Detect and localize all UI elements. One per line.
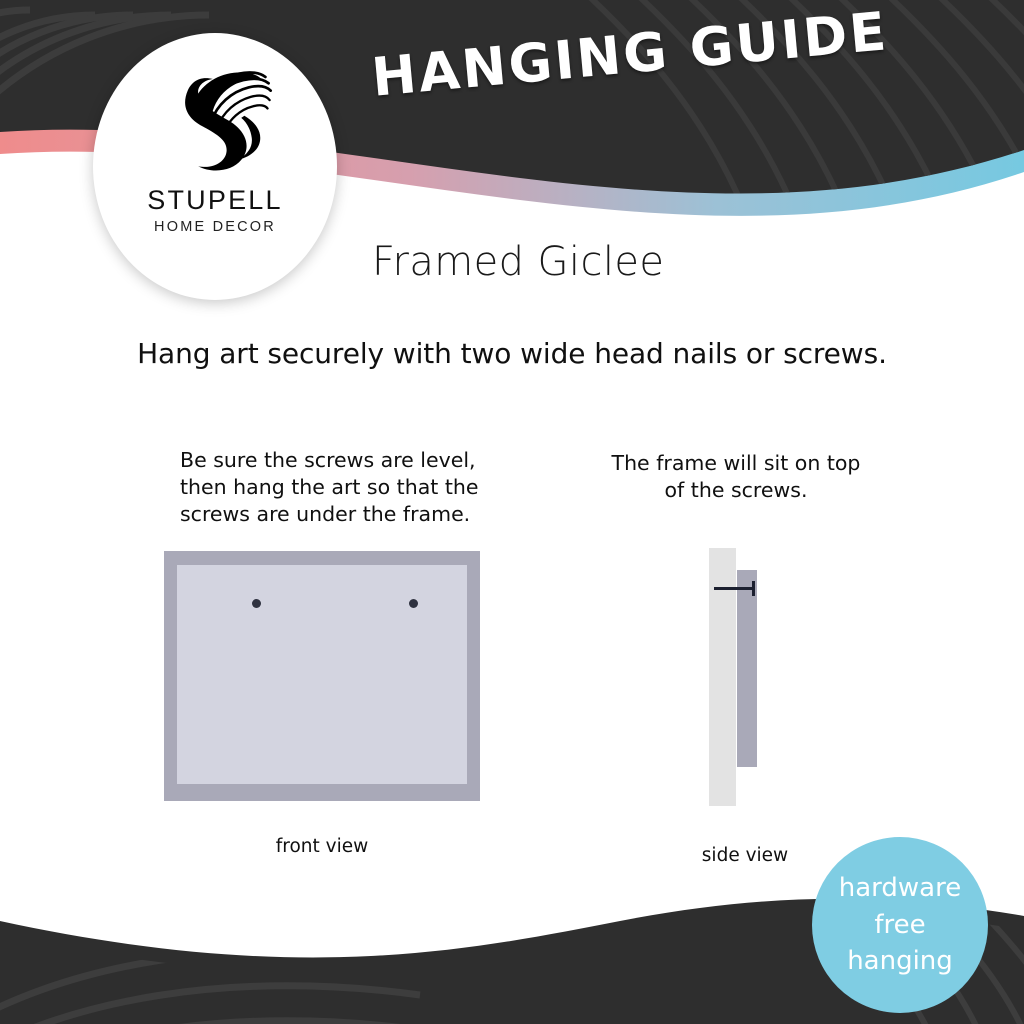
hardware-free-badge: hardware free hanging: [812, 837, 988, 1013]
side-view-diagram: [709, 548, 779, 806]
hanging-guide-page: HANGING GUIDE STUPELL HOME DECOR Framed …: [0, 0, 1024, 1024]
nail-head-icon: [752, 581, 755, 596]
screw-dot-left: [252, 599, 261, 608]
product-type-label: Framed Giclee: [372, 239, 664, 285]
logo-wordmark: STUPELL: [147, 185, 282, 216]
brand-logo-badge: STUPELL HOME DECOR: [93, 33, 337, 300]
page-title: HANGING GUIDE: [369, 1, 892, 109]
stupell-swoosh-icon: [152, 61, 278, 179]
instruction-side-view: The frame will sit on top of the screws.: [600, 450, 872, 504]
nail-icon: [714, 587, 753, 590]
badge-line-2: free: [874, 907, 925, 944]
badge-line-1: hardware: [839, 870, 961, 907]
side-view-caption: side view: [655, 845, 835, 866]
badge-line-3: hanging: [847, 943, 953, 980]
headline-text: Hang art securely with two wide head nai…: [0, 337, 1024, 370]
front-view-caption: front view: [164, 836, 480, 857]
front-view-diagram: [164, 551, 480, 801]
logo-subwordmark: HOME DECOR: [154, 219, 276, 235]
screw-dot-right: [409, 599, 418, 608]
side-view-frame: [737, 570, 757, 767]
front-view-artwork-panel: [177, 565, 467, 784]
instruction-front-view: Be sure the screws are level, then hang …: [180, 447, 480, 528]
